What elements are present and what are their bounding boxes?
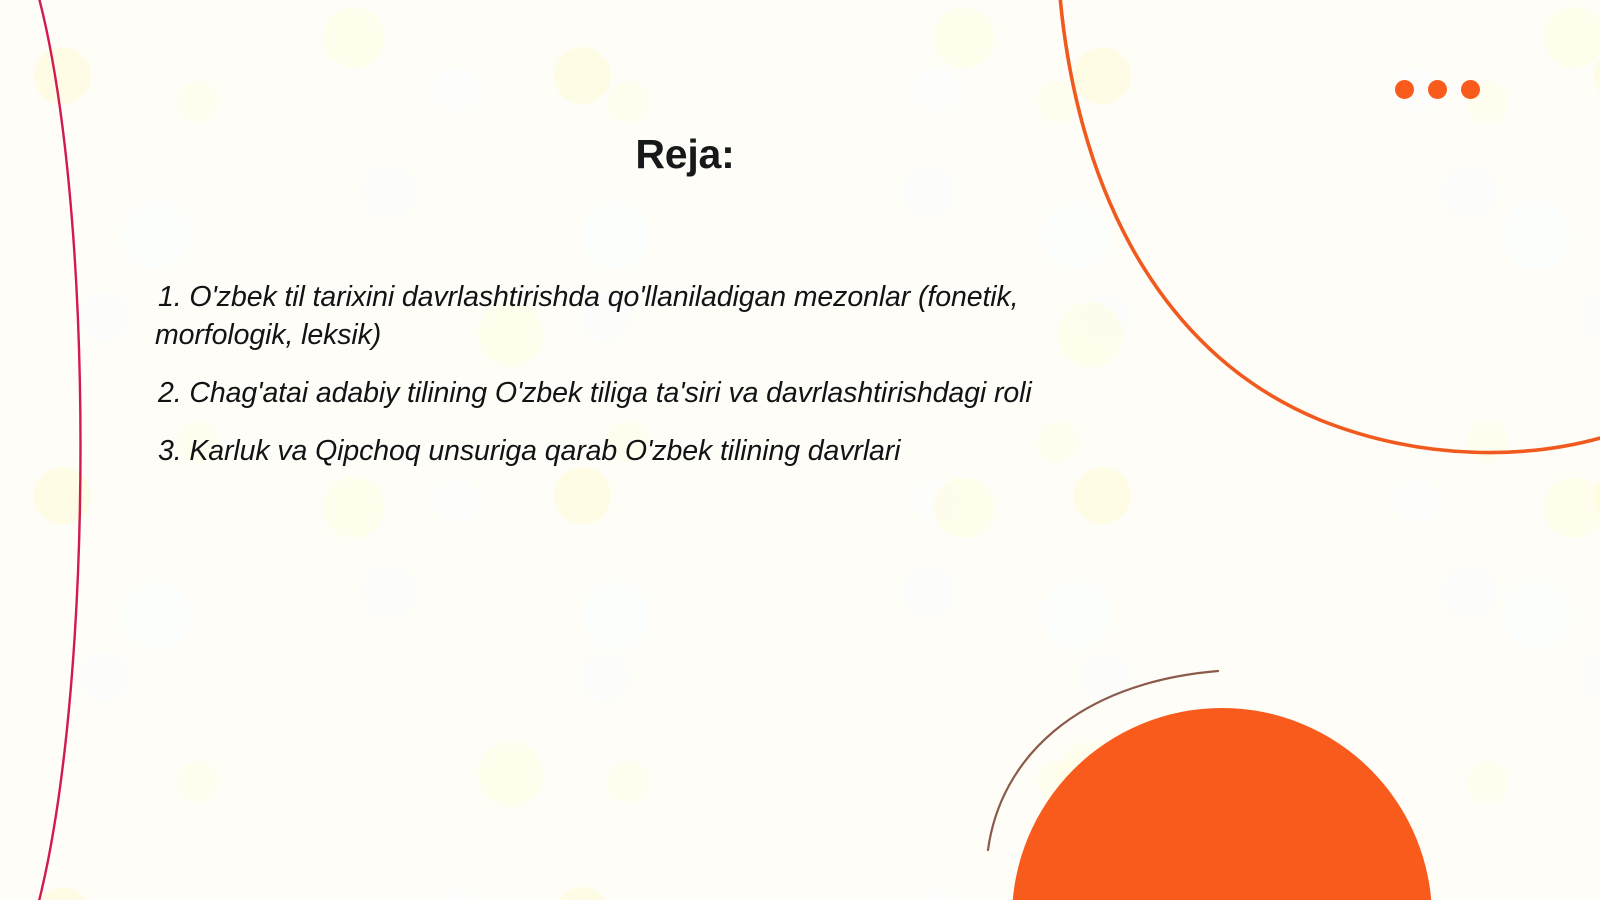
- list-item: 2. Chag'atai adabiy tilining O'zbek tili…: [155, 375, 1090, 413]
- list-item: 1. O'zbek til tarixini davrlashtirishda …: [155, 279, 1090, 355]
- page-title: Reja:: [0, 131, 1370, 178]
- slide-content: Reja: 1. O'zbek til tarixini davrlashtir…: [0, 0, 1600, 900]
- slide-canvas: Reja: 1. O'zbek til tarixini davrlashtir…: [0, 0, 1600, 900]
- list-item: 3. Karluk va Qipchoq unsuriga qarab O'zb…: [155, 433, 1090, 471]
- agenda-list: 1. O'zbek til tarixini davrlashtirishda …: [155, 279, 1090, 471]
